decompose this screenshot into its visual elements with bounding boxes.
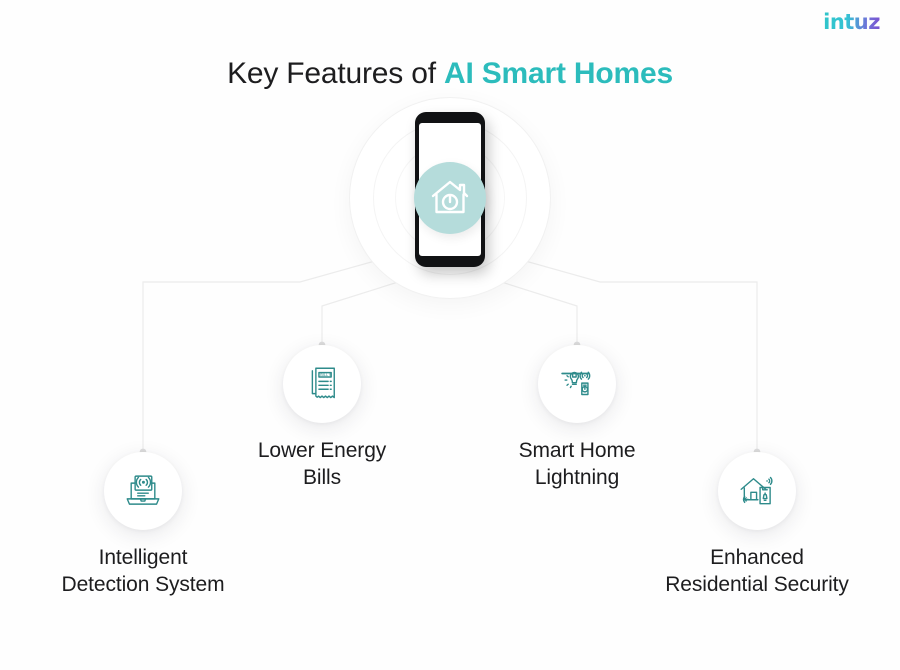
house-alarm-phone-glyph: [736, 470, 778, 512]
ceiling-light-phone-glyph: [556, 363, 598, 405]
infographic-canvas: intuz Key Features of AI Smart Homes: [0, 0, 900, 670]
page-title-plain: Key Features of: [227, 57, 444, 90]
feature-node-enhanced-residential-security[interactable]: Enhanced Residential Security: [652, 452, 862, 598]
intuz-logo: intuz: [823, 12, 880, 33]
feature-node-lower-energy-bills[interactable]: BILL $ Lower Energy Bills: [217, 345, 427, 491]
house-alarm-phone-icon: [718, 452, 796, 530]
laptop-signal-glyph: [122, 470, 164, 512]
feature-label: Smart Home Lightning: [472, 437, 682, 491]
feature-node-smart-home-lightning[interactable]: Smart Home Lightning: [472, 345, 682, 491]
bill-document-glyph: BILL $: [301, 363, 343, 405]
house-power-glyph: [428, 176, 472, 220]
central-hub: [350, 92, 550, 304]
bill-icon-text: BILL $: [320, 373, 332, 377]
feature-label: Enhanced Residential Security: [652, 544, 862, 598]
ceiling-light-phone-icon: [538, 345, 616, 423]
page-title: Key Features of AI Smart Homes: [0, 54, 900, 94]
bill-document-icon: BILL $: [283, 345, 361, 423]
feature-label: Intelligent Detection System: [38, 544, 248, 598]
smart-home-power-icon: [414, 162, 486, 234]
feature-label: Lower Energy Bills: [217, 437, 427, 491]
laptop-signal-icon: [104, 452, 182, 530]
page-title-accent: AI Smart Homes: [444, 57, 673, 90]
